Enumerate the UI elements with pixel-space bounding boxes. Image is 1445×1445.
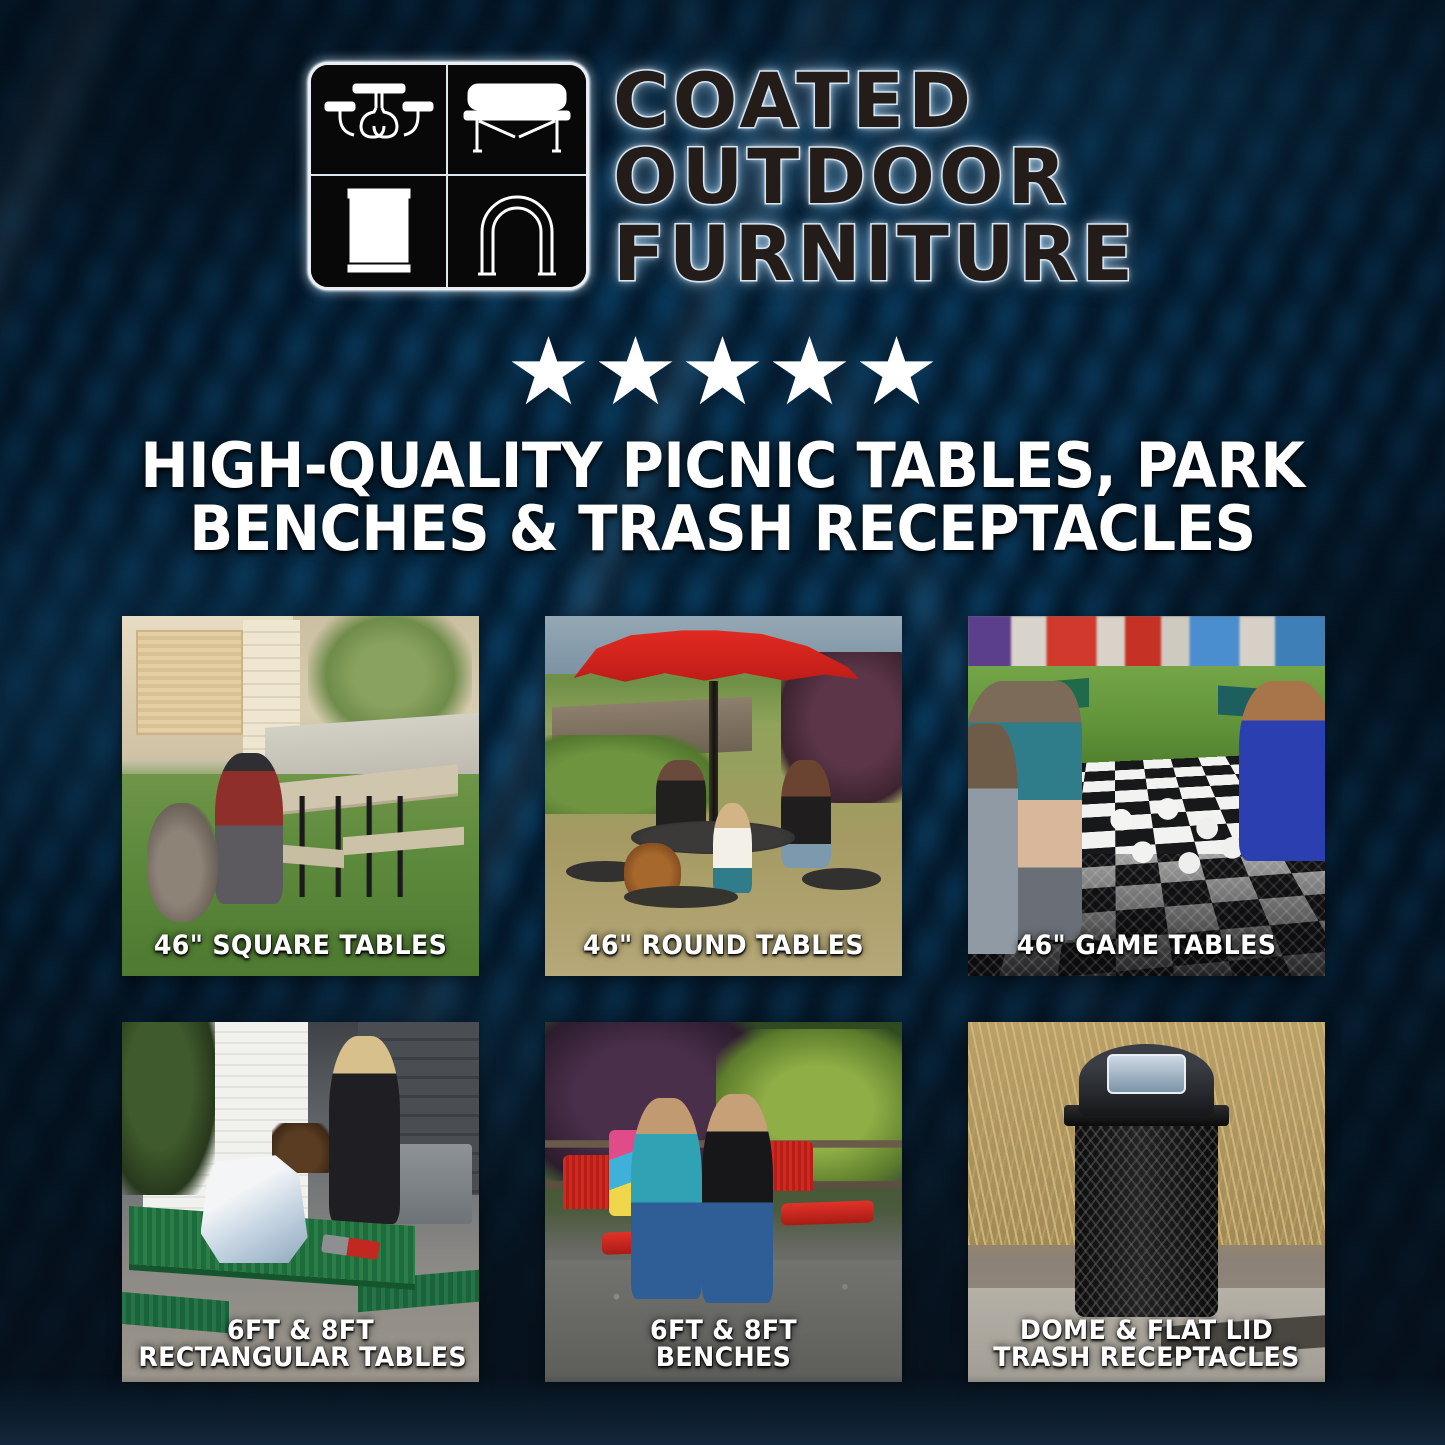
logo-cell-bike-rack — [448, 176, 586, 287]
star-icon — [599, 336, 673, 408]
caption-line: BENCHES — [561, 1344, 885, 1372]
logo-cell-trash-receptacle — [311, 176, 449, 287]
product-tile-trash-receptacles[interactable]: DOME & FLAT LID TRASH RECEPTACLES — [968, 1022, 1325, 1382]
trash-receptacle-icon — [343, 186, 415, 278]
promo-poster: COATED OUTDOOR FURNITURE HIGH-QUALITY PI… — [0, 0, 1445, 1445]
product-grid: 46" SQUARE TABLES 46" ROUND TABLES — [122, 616, 1323, 1382]
headline-line-1: HIGH-QUALITY PICNIC TABLES, PARK — [51, 434, 1395, 497]
caption-line: TRASH RECEPTACLES — [984, 1344, 1308, 1372]
product-photo-round-tables — [545, 616, 902, 976]
headline-line-2: BENCHES & TRASH RECEPTACLES — [51, 497, 1395, 560]
logo-mark — [308, 62, 589, 290]
headline: HIGH-QUALITY PICNIC TABLES, PARK BENCHES… — [51, 434, 1395, 560]
star-icon — [773, 336, 847, 408]
brand-block: COATED OUTDOOR FURNITURE — [0, 62, 1445, 291]
bike-rack-arch-icon — [474, 186, 560, 278]
logo-cell-park-bench — [448, 65, 586, 176]
product-photo-square-tables — [122, 616, 479, 976]
caption-line: 6FT & 8FT — [561, 1317, 885, 1345]
product-tile-square-tables[interactable]: 46" SQUARE TABLES — [122, 616, 479, 976]
product-caption-round-tables: 46" ROUND TABLES — [556, 932, 892, 960]
product-caption-trash-receptacles: DOME & FLAT LID TRASH RECEPTACLES — [979, 1317, 1315, 1372]
poster-content: COATED OUTDOOR FURNITURE HIGH-QUALITY PI… — [0, 0, 1445, 1445]
caption-line: 46" GAME TABLES — [984, 932, 1308, 960]
park-bench-icon — [461, 81, 573, 159]
wordmark-line-1: COATED — [613, 64, 1137, 138]
wordmark-line-3: FURNITURE — [613, 217, 1137, 291]
caption-line: RECTANGULAR TABLES — [138, 1344, 462, 1372]
star-rating — [0, 336, 1445, 408]
product-tile-benches[interactable]: 6FT & 8FT BENCHES — [545, 1022, 902, 1382]
product-tile-rectangular-tables[interactable]: 6FT & 8FT RECTANGULAR TABLES — [122, 1022, 479, 1382]
product-caption-benches: 6FT & 8FT BENCHES — [556, 1317, 892, 1372]
picnic-table-front-icon — [324, 81, 434, 159]
product-caption-square-tables: 46" SQUARE TABLES — [133, 932, 469, 960]
caption-line: 6FT & 8FT — [138, 1317, 462, 1345]
star-icon — [860, 336, 934, 408]
star-icon — [512, 336, 586, 408]
product-caption-game-tables: 46" GAME TABLES — [979, 932, 1315, 960]
wordmark-line-2: OUTDOOR — [613, 140, 1137, 214]
caption-line: 46" SQUARE TABLES — [138, 932, 462, 960]
product-tile-game-tables[interactable]: 46" GAME TABLES — [968, 616, 1325, 976]
star-icon — [686, 336, 760, 408]
product-tile-round-tables[interactable]: 46" ROUND TABLES — [545, 616, 902, 976]
caption-line: DOME & FLAT LID — [984, 1317, 1308, 1345]
product-caption-rectangular-tables: 6FT & 8FT RECTANGULAR TABLES — [133, 1317, 469, 1372]
brand-wordmark: COATED OUTDOOR FURNITURE — [613, 62, 1137, 291]
caption-line: 46" ROUND TABLES — [561, 932, 885, 960]
logo-cell-picnic-table — [311, 65, 449, 176]
product-photo-game-tables — [968, 616, 1325, 976]
